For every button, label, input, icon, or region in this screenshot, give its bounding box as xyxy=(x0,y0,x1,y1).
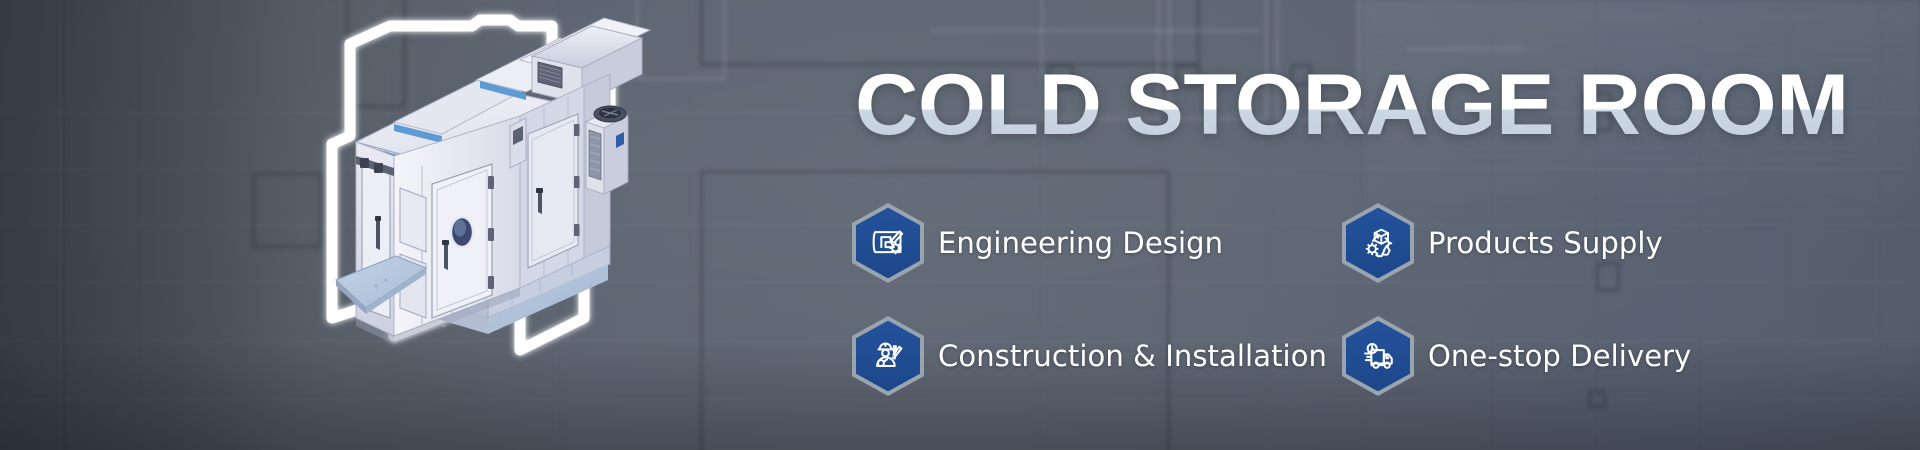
feature-item-products-supply[interactable]: Products Supply xyxy=(1342,203,1663,283)
cold-room-3d-render xyxy=(180,18,740,438)
page-title: COLD STORAGE ROOM xyxy=(855,62,1849,148)
hinged-door-right xyxy=(528,114,580,268)
worker-hardhat-tools-icon xyxy=(852,316,924,396)
feature-label: Products Supply xyxy=(1428,226,1663,260)
feature-label: One-stop Delivery xyxy=(1428,339,1691,373)
cold-storage-room-banner: COLD STORAGE ROOM xyxy=(0,0,1920,450)
side-monoblock-unit xyxy=(586,106,628,194)
hinged-door-with-porthole xyxy=(432,164,494,318)
feature-item-engineering-design[interactable]: Engineering Design xyxy=(852,203,1223,283)
feature-label: Construction & Installation xyxy=(938,339,1327,373)
box-gear-recycle-icon xyxy=(1342,203,1414,283)
feature-item-construction-installation[interactable]: Construction & Installation xyxy=(852,316,1327,396)
delivery-truck-clock-icon xyxy=(1342,316,1414,396)
feature-list: Engineering Design xyxy=(852,203,1652,413)
control-panel xyxy=(510,118,526,168)
feature-item-one-stop-delivery[interactable]: One-stop Delivery xyxy=(1342,316,1691,396)
feature-label: Engineering Design xyxy=(938,226,1223,260)
blueprint-drafting-icon xyxy=(852,203,924,283)
